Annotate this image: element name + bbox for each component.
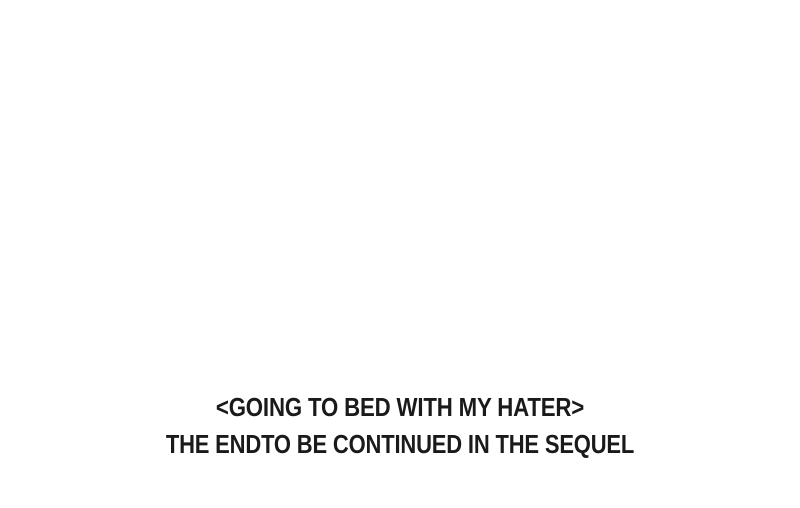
comic-page: <GOING TO BED WITH MY HATER> THE ENDTO B… bbox=[0, 0, 800, 508]
series-title-text: <GOING TO BED WITH MY HATER> bbox=[58, 392, 742, 422]
end-and-sequel-notice-text: THE ENDTO BE CONTINUED IN THE SEQUEL bbox=[62, 429, 738, 459]
blank-canvas-area bbox=[0, 0, 800, 390]
end-card-caption-block: <GOING TO BED WITH MY HATER> THE ENDTO B… bbox=[0, 392, 800, 459]
